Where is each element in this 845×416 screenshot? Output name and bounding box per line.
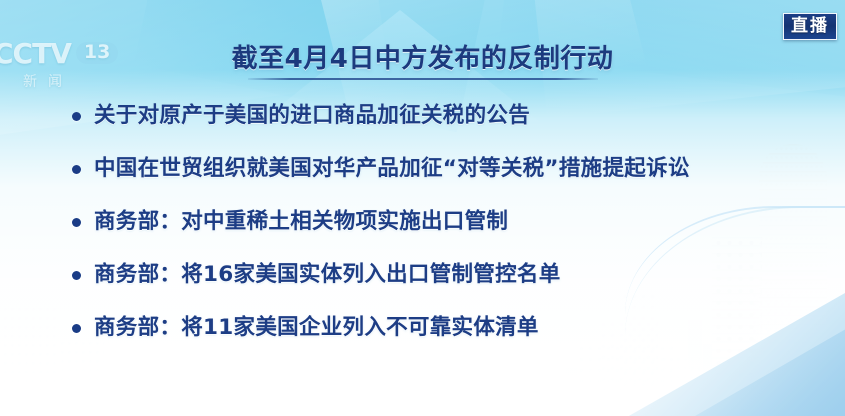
bullet-dot-icon: [72, 112, 81, 121]
list-item: 商务部：将11家美国企业列入不可靠实体清单: [72, 313, 815, 366]
list-item: 商务部：将16家美国实体列入出口管制管控名单: [72, 260, 815, 313]
list-item: 关于对原产于美国的进口商品加征关税的公告: [72, 101, 815, 154]
bullet-list: 关于对原产于美国的进口商品加征关税的公告 中国在世贸组织就美国对华产品加征“对等…: [72, 101, 815, 366]
list-item: 中国在世贸组织就美国对华产品加征“对等关税”措施提起诉讼: [72, 154, 815, 207]
bullet-dot-icon: [72, 165, 81, 174]
bullet-dot-icon: [72, 218, 81, 227]
live-badge-label: 直播: [791, 17, 829, 35]
bullet-text: 关于对原产于美国的进口商品加征关税的公告: [94, 101, 530, 131]
bullet-text: 商务部：对中重稀土相关物项实施出口管制: [94, 207, 508, 237]
list-item: 商务部：对中重稀土相关物项实施出口管制: [72, 207, 815, 260]
broadcast-graphic-screen: CCTV 13 新闻 直播 截至4月4日中方发布的反制行动 关于对原产于美国的进…: [0, 0, 845, 416]
headline-underline: [248, 78, 598, 80]
bullet-text: 中国在世贸组织就美国对华产品加征“对等关税”措施提起诉讼: [94, 154, 690, 184]
bullet-text: 商务部：将16家美国实体列入出口管制管控名单: [94, 260, 561, 290]
page-title: 截至4月4日中方发布的反制行动: [232, 44, 614, 74]
bullet-text: 商务部：将11家美国企业列入不可靠实体清单: [94, 313, 539, 343]
bullet-dot-icon: [72, 271, 81, 280]
headline-container: 截至4月4日中方发布的反制行动: [0, 44, 845, 74]
bullet-dot-icon: [72, 324, 81, 333]
live-badge: 直播: [783, 13, 837, 40]
logo-news-label: 新闻: [0, 71, 121, 91]
